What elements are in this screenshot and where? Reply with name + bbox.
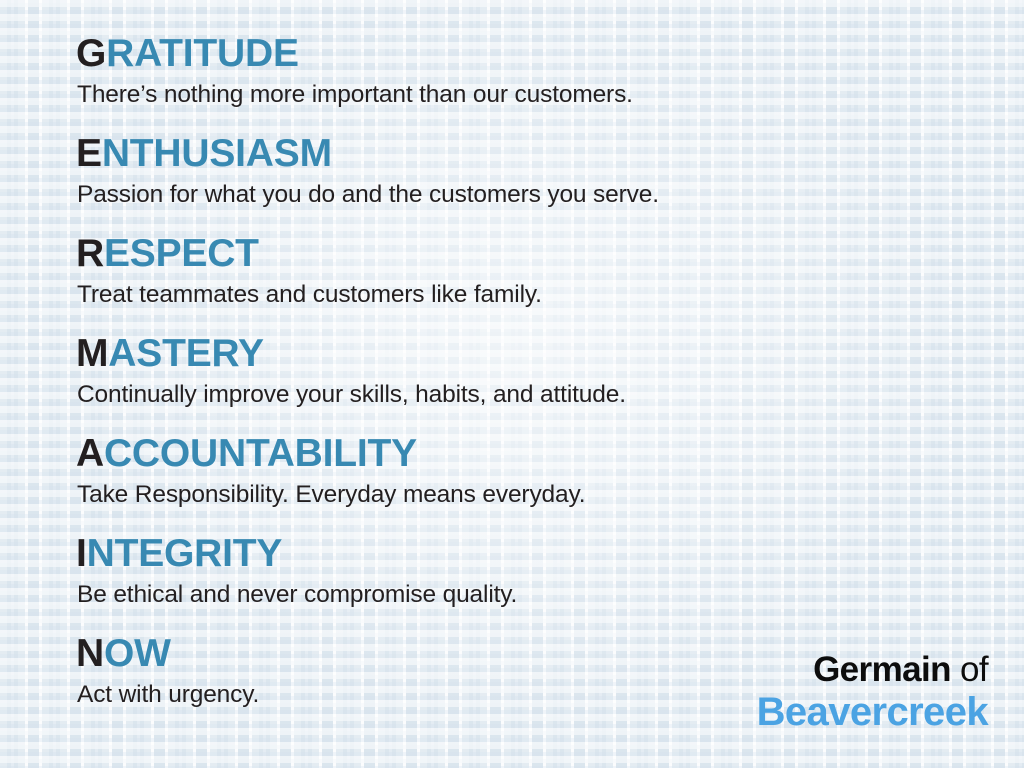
value-subtitle-integrity: Be ethical and never compromise quality. [77, 580, 976, 610]
logo-location-name: Beavercreek [757, 690, 988, 734]
value-subtitle-accountability: Take Responsibility. Everyday means ever… [77, 480, 976, 510]
value-headline-accountability: ACCOUNTABILITY [76, 433, 976, 475]
logo-conjunction: of [951, 650, 988, 689]
value-subtitle-mastery: Continually improve your skills, habits,… [77, 380, 976, 410]
value-block-integrity: INTEGRITY Be ethical and never compromis… [76, 533, 976, 633]
value-block-accountability: ACCOUNTABILITY Take Responsibility. Ever… [76, 433, 976, 533]
value-headline-rest: CCOUNTABILITY [104, 432, 417, 475]
value-subtitle-respect: Treat teammates and customers like famil… [77, 280, 976, 310]
value-subtitle-enthusiasm: Passion for what you do and the customer… [77, 180, 976, 210]
value-subtitle-gratitude: There’s nothing more important than our … [77, 80, 976, 110]
value-headline-rest: OW [104, 632, 171, 675]
value-lead-letter: I [76, 532, 87, 575]
core-values-list: GRATITUDE There’s nothing more important… [76, 33, 976, 733]
value-lead-letter: G [76, 32, 106, 75]
value-headline-gratitude: GRATITUDE [76, 33, 976, 75]
poster-canvas: GRATITUDE There’s nothing more important… [0, 0, 1024, 768]
value-headline-enthusiasm: ENTHUSIASM [76, 133, 976, 175]
value-headline-integrity: INTEGRITY [76, 533, 976, 575]
value-lead-letter: E [76, 132, 102, 175]
value-headline-rest: ASTERY [108, 332, 264, 375]
logo-line-germain-of: Germain of [757, 650, 988, 690]
value-lead-letter: N [76, 632, 104, 675]
value-headline-respect: RESPECT [76, 233, 976, 275]
value-block-enthusiasm: ENTHUSIASM Passion for what you do and t… [76, 133, 976, 233]
value-headline-rest: ESPECT [104, 232, 259, 275]
value-lead-letter: M [76, 332, 108, 375]
value-headline-mastery: MASTERY [76, 333, 976, 375]
value-lead-letter: A [76, 432, 104, 475]
value-block-mastery: MASTERY Continually improve your skills,… [76, 333, 976, 433]
value-headline-rest: RATITUDE [106, 32, 299, 75]
value-block-gratitude: GRATITUDE There’s nothing more important… [76, 33, 976, 133]
value-headline-rest: NTEGRITY [87, 532, 283, 575]
value-lead-letter: R [76, 232, 104, 275]
value-block-respect: RESPECT Treat teammates and customers li… [76, 233, 976, 333]
logo-brand-name: Germain [813, 650, 951, 689]
dealership-logo: Germain of Beavercreek [757, 650, 988, 734]
value-headline-rest: NTHUSIASM [102, 132, 332, 175]
